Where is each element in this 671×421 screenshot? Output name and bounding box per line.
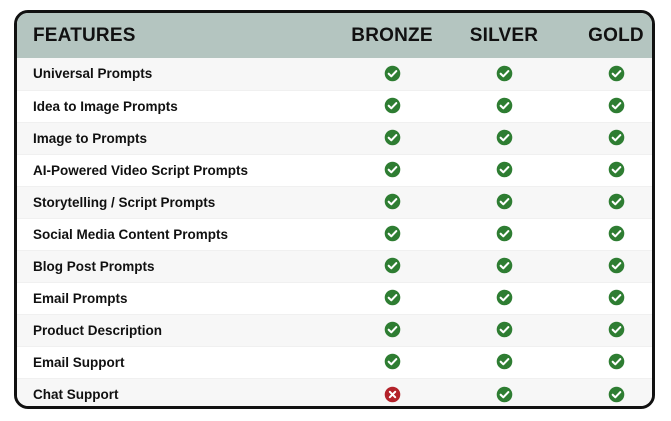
check-circle-icon: [496, 193, 513, 210]
check-circle-icon: [384, 257, 401, 274]
header-row: FEATURES BRONZE SILVER GOLD: [17, 13, 655, 58]
check-circle-icon: [608, 289, 625, 306]
feature-label: Social Media Content Prompts: [17, 218, 336, 250]
check-circle-icon: [496, 257, 513, 274]
cell-bronze: [336, 90, 448, 122]
check-circle-icon: [496, 97, 513, 114]
cell-silver: [448, 250, 560, 282]
check-circle-icon: [384, 129, 401, 146]
comparison-table: FEATURES BRONZE SILVER GOLD Universal Pr…: [17, 13, 655, 409]
cell-gold: [560, 90, 655, 122]
cell-silver: [448, 90, 560, 122]
feature-label: Storytelling / Script Prompts: [17, 186, 336, 218]
feature-label: Email Prompts: [17, 282, 336, 314]
feature-label: Idea to Image Prompts: [17, 90, 336, 122]
cell-gold: [560, 346, 655, 378]
check-circle-icon: [496, 65, 513, 82]
check-circle-icon: [608, 97, 625, 114]
cell-bronze: [336, 186, 448, 218]
check-circle-icon: [608, 385, 625, 402]
check-circle-icon: [384, 289, 401, 306]
table-row: Social Media Content Prompts: [17, 218, 655, 250]
cell-bronze: [336, 282, 448, 314]
table-row: Chat Support: [17, 378, 655, 409]
cell-gold: [560, 58, 655, 90]
cell-silver: [448, 122, 560, 154]
table-row: AI-Powered Video Script Prompts: [17, 154, 655, 186]
cell-bronze: [336, 58, 448, 90]
check-circle-icon: [608, 353, 625, 370]
pricing-comparison-table: FEATURES BRONZE SILVER GOLD Universal Pr…: [14, 10, 655, 409]
table-row: Storytelling / Script Prompts: [17, 186, 655, 218]
check-circle-icon: [496, 289, 513, 306]
table-row: Universal Prompts: [17, 58, 655, 90]
cell-gold: [560, 250, 655, 282]
check-circle-icon: [384, 97, 401, 114]
table-row: Blog Post Prompts: [17, 250, 655, 282]
feature-label: Chat Support: [17, 378, 336, 409]
check-circle-icon: [384, 225, 401, 242]
cell-gold: [560, 282, 655, 314]
cell-silver: [448, 378, 560, 409]
check-circle-icon: [496, 353, 513, 370]
cell-gold: [560, 186, 655, 218]
check-circle-icon: [608, 193, 625, 210]
cell-silver: [448, 346, 560, 378]
table-row: Image to Prompts: [17, 122, 655, 154]
cell-silver: [448, 154, 560, 186]
cell-gold: [560, 378, 655, 409]
check-circle-icon: [496, 385, 513, 402]
cell-gold: [560, 154, 655, 186]
cell-silver: [448, 58, 560, 90]
check-circle-icon: [608, 225, 625, 242]
check-circle-icon: [384, 193, 401, 210]
check-circle-icon: [608, 129, 625, 146]
column-header-bronze: BRONZE: [336, 13, 448, 58]
cell-silver: [448, 314, 560, 346]
feature-label: Product Description: [17, 314, 336, 346]
cell-gold: [560, 314, 655, 346]
cell-bronze: [336, 122, 448, 154]
check-circle-icon: [608, 65, 625, 82]
cell-bronze: [336, 378, 448, 409]
cell-bronze: [336, 250, 448, 282]
feature-label: Email Support: [17, 346, 336, 378]
check-circle-icon: [608, 161, 625, 178]
table-row: Idea to Image Prompts: [17, 90, 655, 122]
check-circle-icon: [496, 225, 513, 242]
check-circle-icon: [384, 161, 401, 178]
cell-silver: [448, 218, 560, 250]
cell-bronze: [336, 218, 448, 250]
cell-silver: [448, 186, 560, 218]
check-circle-icon: [608, 321, 625, 338]
column-header-silver: SILVER: [448, 13, 560, 58]
check-circle-icon: [384, 321, 401, 338]
column-header-features: FEATURES: [17, 13, 336, 58]
table-body: Universal PromptsIdea to Image PromptsIm…: [17, 58, 655, 409]
cell-bronze: [336, 314, 448, 346]
table-row: Email Prompts: [17, 282, 655, 314]
feature-label: AI-Powered Video Script Prompts: [17, 154, 336, 186]
check-circle-icon: [384, 353, 401, 370]
cell-bronze: [336, 154, 448, 186]
check-circle-icon: [496, 129, 513, 146]
cell-silver: [448, 282, 560, 314]
check-circle-icon: [496, 161, 513, 178]
cell-bronze: [336, 346, 448, 378]
check-circle-icon: [608, 257, 625, 274]
feature-label: Image to Prompts: [17, 122, 336, 154]
column-header-gold: GOLD: [560, 13, 655, 58]
table-row: Email Support: [17, 346, 655, 378]
cell-gold: [560, 218, 655, 250]
check-circle-icon: [384, 65, 401, 82]
cross-circle-icon: [384, 385, 401, 402]
feature-label: Blog Post Prompts: [17, 250, 336, 282]
cell-gold: [560, 122, 655, 154]
table-header: FEATURES BRONZE SILVER GOLD: [17, 13, 655, 58]
feature-label: Universal Prompts: [17, 58, 336, 90]
table-row: Product Description: [17, 314, 655, 346]
check-circle-icon: [496, 321, 513, 338]
